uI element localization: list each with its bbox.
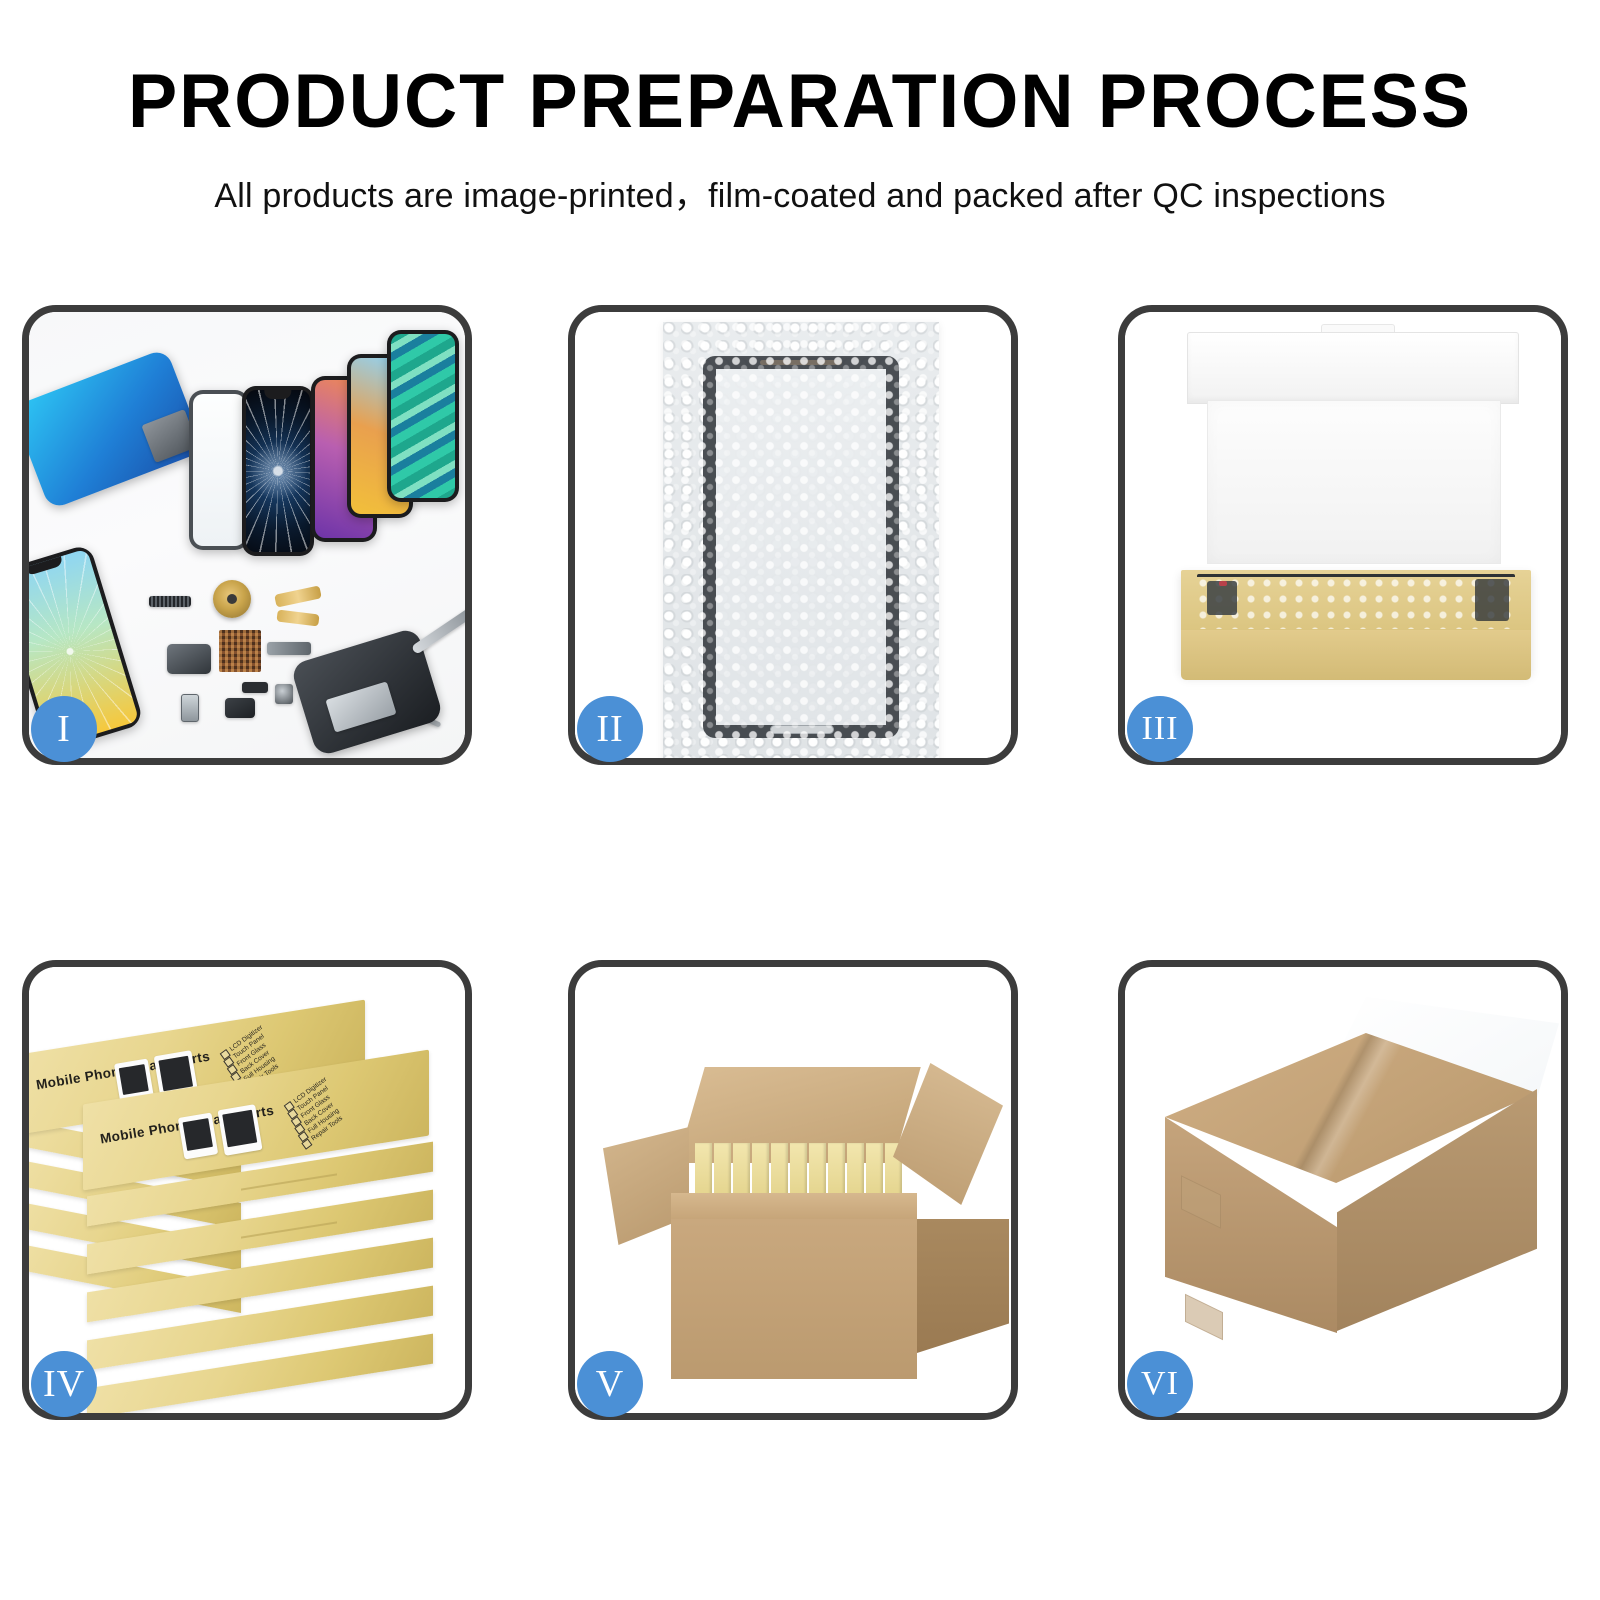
cracked-screen-phone: [242, 386, 314, 556]
kraft-box-front-wall: [1181, 630, 1531, 680]
step-badge-6: VI: [1127, 1351, 1193, 1417]
earpiece-slot: [760, 360, 842, 365]
step-badge-2: II: [577, 696, 643, 762]
packing-tape-strip: [1185, 1294, 1223, 1341]
step-2-image: [575, 312, 1011, 758]
green-wave-screen-phone: [387, 330, 459, 502]
retail-box-checklist: LCD Digitizer Touch Panel Front Glass Ba…: [279, 1087, 336, 1143]
flex-ribbon-part: [167, 644, 211, 674]
process-step-panel-1[interactable]: I: [22, 305, 472, 765]
screen-edge-left: [1207, 581, 1237, 615]
scene-sealed-carton: [1125, 967, 1561, 1413]
step-badge-4: IV: [31, 1351, 97, 1417]
process-step-panel-3[interactable]: III: [1118, 305, 1568, 765]
process-step-panel-5[interactable]: V: [568, 960, 1018, 1420]
page-header: PRODUCT PREPARATION PROCESS All products…: [0, 64, 1600, 217]
step-badge-1: I: [31, 696, 97, 762]
scene-open-mailer-box: [1125, 312, 1561, 758]
step-badge-3: III: [1127, 696, 1193, 762]
step-3-image: [1125, 312, 1561, 758]
box-screen-thumbnail: [217, 1104, 262, 1156]
white-foam-insert: [1207, 400, 1501, 564]
scene-open-carton: [575, 967, 1011, 1413]
step-4-image: Mobile Phone Spare Parts LCD Digitizer T…: [29, 967, 465, 1413]
carton-front-face: [671, 1219, 917, 1379]
process-step-panel-2[interactable]: II: [568, 305, 1018, 765]
side-button-part: [267, 642, 311, 655]
carton-right-side: [917, 1219, 1009, 1353]
ic-chip-part: [219, 630, 261, 672]
step-badge-5: V: [577, 1351, 643, 1417]
scene-gold-box-stack: Mobile Phone Spare Parts LCD Digitizer T…: [29, 967, 465, 1413]
speaker-mesh-part: [149, 596, 191, 607]
page-title: PRODUCT PREPARATION PROCESS: [24, 64, 1576, 140]
wrapped-phone-screen: [703, 356, 899, 738]
phone-notch: [264, 390, 291, 399]
wireless-charging-coil-part: [213, 580, 251, 618]
box-screen-thumbnail: [178, 1112, 218, 1159]
process-step-panel-4[interactable]: Mobile Phone Spare Parts LCD Digitizer T…: [22, 960, 472, 1420]
page-subtitle: All products are image-printed，film-coat…: [0, 168, 1600, 217]
screen-edge-right: [1475, 579, 1509, 621]
box-lid-flap: [1187, 332, 1519, 404]
step-5-image: [575, 967, 1011, 1413]
crack-pattern: [246, 390, 310, 552]
scene-bubble-wrapped-screen: [575, 312, 1011, 758]
scene-phone-parts: [29, 312, 465, 758]
connector-part: [242, 682, 268, 693]
process-step-panel-6[interactable]: VI: [1118, 960, 1568, 1420]
step-1-image: [29, 312, 465, 758]
front-glass-panel: [189, 390, 249, 550]
taptic-engine-part: [225, 698, 255, 718]
sim-tray-part: [181, 694, 199, 722]
home-button: [770, 725, 833, 734]
flex-cable-part: [276, 609, 319, 626]
step-6-image: [1125, 967, 1561, 1413]
repair-tool-part: [411, 603, 465, 655]
red-label-dot: [1219, 581, 1227, 586]
camera-module-part: [275, 684, 293, 704]
flex-cable-part: [274, 585, 322, 607]
packed-screen-in-box: [1197, 574, 1515, 629]
